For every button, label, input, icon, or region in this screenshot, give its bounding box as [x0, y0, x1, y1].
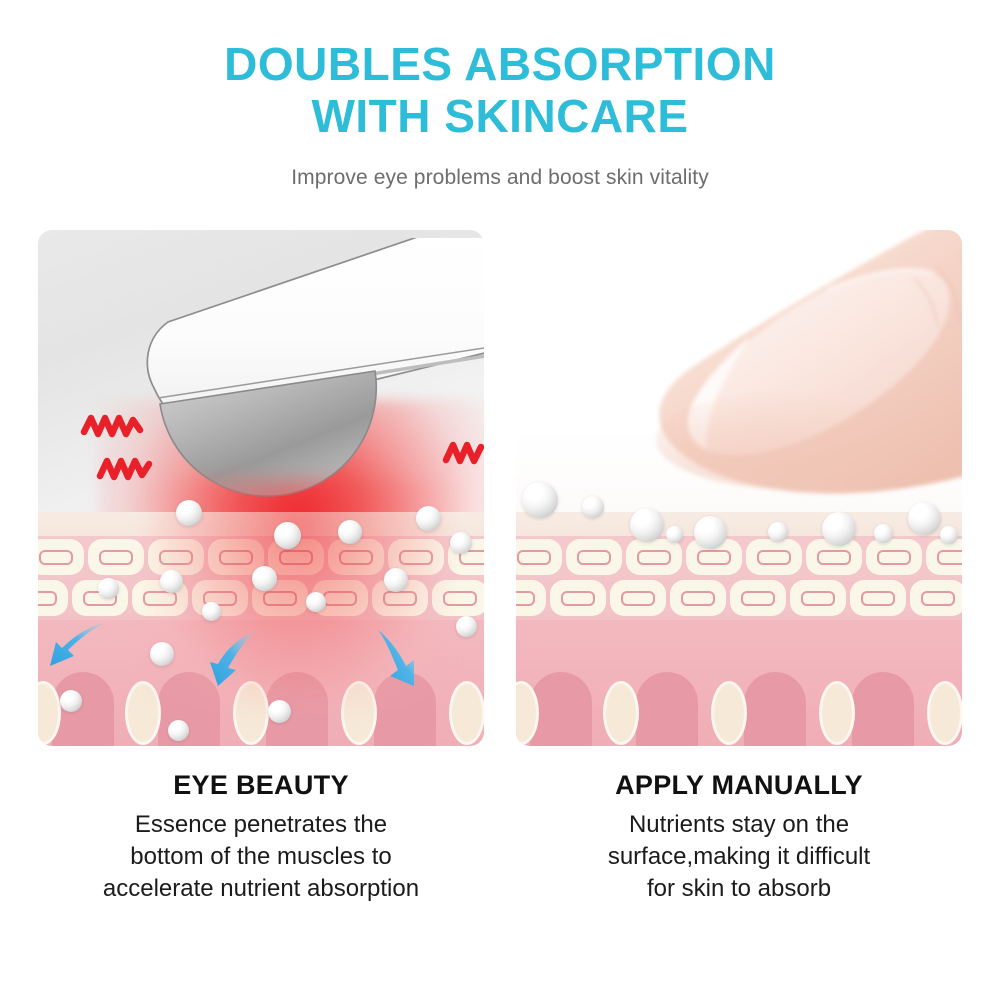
- follicle: [452, 684, 482, 742]
- skin-cell: [670, 580, 726, 616]
- caption-body: Nutrients stay on the surface,making it …: [516, 801, 962, 905]
- skin-cell: [328, 539, 384, 575]
- skin-surface-film: [516, 512, 962, 536]
- cell-nucleus: [99, 550, 133, 565]
- cell-nucleus: [279, 550, 313, 565]
- comparison-panels: [38, 230, 962, 746]
- follicle: [930, 684, 960, 742]
- red-wave-icon: [96, 452, 158, 486]
- follicle: [128, 684, 158, 742]
- papilla: [744, 672, 806, 746]
- red-wave-icon: [80, 410, 148, 444]
- cell-nucleus: [561, 591, 595, 606]
- header: DOUBLES ABSORPTION WITH SKINCARE Improve…: [0, 38, 1000, 190]
- cell-nucleus: [399, 550, 433, 565]
- infographic-page: DOUBLES ABSORPTION WITH SKINCARE Improve…: [0, 0, 1000, 1000]
- skin-cell: [516, 539, 562, 575]
- nutrient-pearl-icon: [522, 482, 558, 518]
- nutrient-pearl-icon: [874, 524, 893, 543]
- cell-nucleus: [861, 591, 895, 606]
- nutrient-pearl-icon: [98, 578, 119, 599]
- caption-body: Essence penetrates the bottom of the mus…: [38, 801, 484, 905]
- dermal-papillae: [516, 668, 962, 746]
- cell-nucleus: [577, 550, 611, 565]
- page-title: DOUBLES ABSORPTION WITH SKINCARE: [0, 38, 1000, 142]
- cell-nucleus: [817, 550, 851, 565]
- cell-nucleus: [877, 550, 911, 565]
- blue-down-arrow-icon: [368, 628, 434, 690]
- apply-manually-panel: [516, 230, 962, 746]
- nutrient-pearl-icon: [582, 496, 604, 518]
- nutrient-pearl-icon: [416, 506, 441, 531]
- cell-nucleus: [637, 550, 671, 565]
- skin-cell: [432, 580, 484, 616]
- papilla: [530, 672, 592, 746]
- nutrient-pearl-icon: [694, 516, 727, 549]
- papilla: [636, 672, 698, 746]
- cell-nucleus: [741, 591, 775, 606]
- skin-cell: [610, 580, 666, 616]
- cell-nucleus: [921, 591, 955, 606]
- epidermis-layer: [516, 536, 962, 620]
- cell-nucleus: [219, 550, 253, 565]
- cell-nucleus: [937, 550, 962, 565]
- eye-beauty-panel: [38, 230, 484, 746]
- follicle: [606, 684, 636, 742]
- caption-title: APPLY MANUALLY: [516, 770, 962, 801]
- skin-cell: [926, 539, 962, 575]
- nutrient-pearl-icon: [450, 532, 472, 554]
- nutrient-pearl-icon: [908, 502, 941, 535]
- nutrient-pearl-icon: [338, 520, 362, 544]
- panel-background-right: [516, 230, 962, 512]
- caption-title: EYE BEAUTY: [38, 770, 484, 801]
- panel-captions: EYE BEAUTY Essence penetrates the bottom…: [38, 770, 962, 905]
- cell-nucleus: [39, 550, 73, 565]
- papilla: [52, 672, 114, 746]
- nutrient-pearl-icon: [384, 568, 408, 592]
- skin-cell: [148, 539, 204, 575]
- dermis-layer: [516, 620, 962, 746]
- skin-cell: [730, 580, 786, 616]
- epidermis-cell-row: [516, 580, 960, 618]
- follicle: [822, 684, 852, 742]
- skin-cell: [550, 580, 606, 616]
- nutrient-pearl-icon: [306, 592, 326, 612]
- skin-cell: [626, 539, 682, 575]
- cell-nucleus: [621, 591, 655, 606]
- nutrient-pearl-icon: [176, 500, 202, 526]
- cell-nucleus: [383, 591, 417, 606]
- cell-nucleus: [681, 591, 715, 606]
- skin-cell: [850, 580, 906, 616]
- nutrient-pearl-icon: [666, 526, 683, 543]
- cell-nucleus: [801, 591, 835, 606]
- nutrient-pearl-icon: [168, 720, 189, 741]
- cell-nucleus: [697, 550, 731, 565]
- nutrient-pearl-icon: [252, 566, 277, 591]
- skin-cell: [516, 580, 546, 616]
- nutrient-pearl-icon: [202, 602, 221, 621]
- cell-nucleus: [757, 550, 791, 565]
- cell-nucleus: [38, 591, 57, 606]
- cell-nucleus: [516, 591, 535, 606]
- skin-cell: [566, 539, 622, 575]
- page-subtitle: Improve eye problems and boost skin vita…: [0, 142, 1000, 190]
- nutrient-pearl-icon: [630, 508, 664, 542]
- nutrient-pearl-icon: [160, 570, 183, 593]
- red-wave-icon: [442, 436, 484, 470]
- nutrient-pearl-icon: [940, 526, 958, 544]
- skin-cell: [790, 580, 846, 616]
- cell-nucleus: [159, 550, 193, 565]
- skin-cell: [38, 539, 84, 575]
- cell-nucleus: [263, 591, 297, 606]
- skin-cell: [866, 539, 922, 575]
- caption-eye-beauty: EYE BEAUTY Essence penetrates the bottom…: [38, 770, 484, 905]
- cell-nucleus: [323, 591, 357, 606]
- follicle: [236, 684, 266, 742]
- papilla: [852, 672, 914, 746]
- blue-down-arrow-icon: [44, 618, 110, 680]
- nutrient-pearl-icon: [268, 700, 291, 723]
- nutrient-pearl-icon: [768, 522, 788, 542]
- skin-cell: [910, 580, 962, 616]
- follicle: [344, 684, 374, 742]
- skin-cell: [746, 539, 802, 575]
- follicle: [714, 684, 744, 742]
- nutrient-pearl-icon: [456, 616, 477, 637]
- nutrient-pearl-icon: [60, 690, 82, 712]
- nutrient-pearl-icon: [150, 642, 174, 666]
- caption-apply-manually: APPLY MANUALLY Nutrients stay on the sur…: [516, 770, 962, 905]
- cell-nucleus: [443, 591, 477, 606]
- nutrient-pearl-icon: [274, 522, 301, 549]
- cell-nucleus: [339, 550, 373, 565]
- cell-nucleus: [517, 550, 551, 565]
- blue-down-arrow-icon: [196, 630, 262, 692]
- skin-cell: [38, 580, 68, 616]
- skin-cell: [88, 539, 144, 575]
- epidermis-cell-row: [516, 539, 962, 577]
- nutrient-pearl-icon: [822, 512, 856, 546]
